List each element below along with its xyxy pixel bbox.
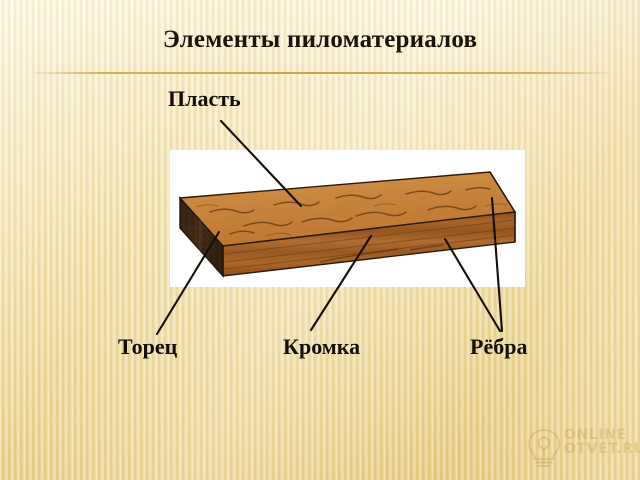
page-title: Элементы пиломатериалов [0, 26, 640, 54]
watermark-line-1: ONLINE [564, 428, 640, 442]
label-rebra: Рёбра [470, 334, 527, 360]
label-plast: Пласть [168, 86, 241, 112]
diagram-photo-panel [170, 150, 525, 287]
label-kromka: Кромка [283, 334, 360, 360]
watermark: ONLINE OTVET.RU [524, 424, 636, 474]
lightbulb-icon [524, 424, 564, 472]
title-divider [34, 72, 608, 74]
watermark-text: ONLINE OTVET.RU [564, 428, 640, 457]
label-torec: Торец [118, 334, 177, 360]
lumber-board-illustration [170, 150, 525, 287]
slide-canvas: Элементы пиломатериалов [0, 0, 640, 480]
watermark-line-2: OTVET.RU [564, 442, 640, 456]
